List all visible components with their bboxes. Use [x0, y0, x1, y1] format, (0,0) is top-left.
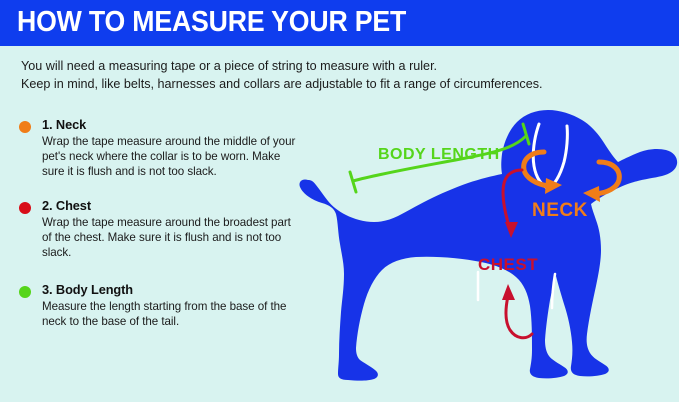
- step-title-chest: 2. Chest: [42, 198, 300, 214]
- chest-arrow-down-head-icon: [502, 284, 515, 300]
- bullet-dot-chest-icon: [19, 202, 31, 214]
- measurement-steps-list: 1. Neck Wrap the tape measure around the…: [18, 117, 300, 346]
- intro-text: You will need a measuring tape or a piec…: [21, 58, 661, 93]
- header-underline: [0, 43, 679, 46]
- step-description-neck: Wrap the tape measure around the middle …: [42, 134, 300, 180]
- step-item-body-length: 3. Body Length Measure the length starti…: [18, 282, 300, 329]
- infographic-page: HOW TO MEASURE YOUR PET You will need a …: [0, 0, 679, 402]
- intro-line-2: Keep in mind, like belts, harnesses and …: [21, 76, 661, 94]
- bullet-dot-neck-icon: [19, 121, 31, 133]
- step-description-body-length: Measure the length starting from the bas…: [42, 299, 300, 329]
- body-length-label: BODY LENGTH: [378, 146, 500, 163]
- step-description-chest: Wrap the tape measure around the broades…: [42, 215, 300, 261]
- bullet-dot-body-length-icon: [19, 286, 31, 298]
- step-title-body-length: 3. Body Length: [42, 282, 300, 298]
- page-title: HOW TO MEASURE YOUR PET: [17, 6, 406, 38]
- step-item-chest: 2. Chest Wrap the tape measure around th…: [18, 198, 300, 261]
- dog-measurement-diagram: BODY LENGTH NECK CHEST: [296, 104, 679, 402]
- body-length-end-tick-left-icon: [350, 172, 356, 192]
- chest-label: CHEST: [478, 255, 538, 274]
- intro-line-1: You will need a measuring tape or a piec…: [21, 58, 661, 76]
- step-title-neck: 1. Neck: [42, 117, 300, 133]
- step-item-neck: 1. Neck Wrap the tape measure around the…: [18, 117, 300, 180]
- chest-measure-arc-lower-icon: [506, 296, 532, 338]
- neck-label: NECK: [532, 200, 588, 221]
